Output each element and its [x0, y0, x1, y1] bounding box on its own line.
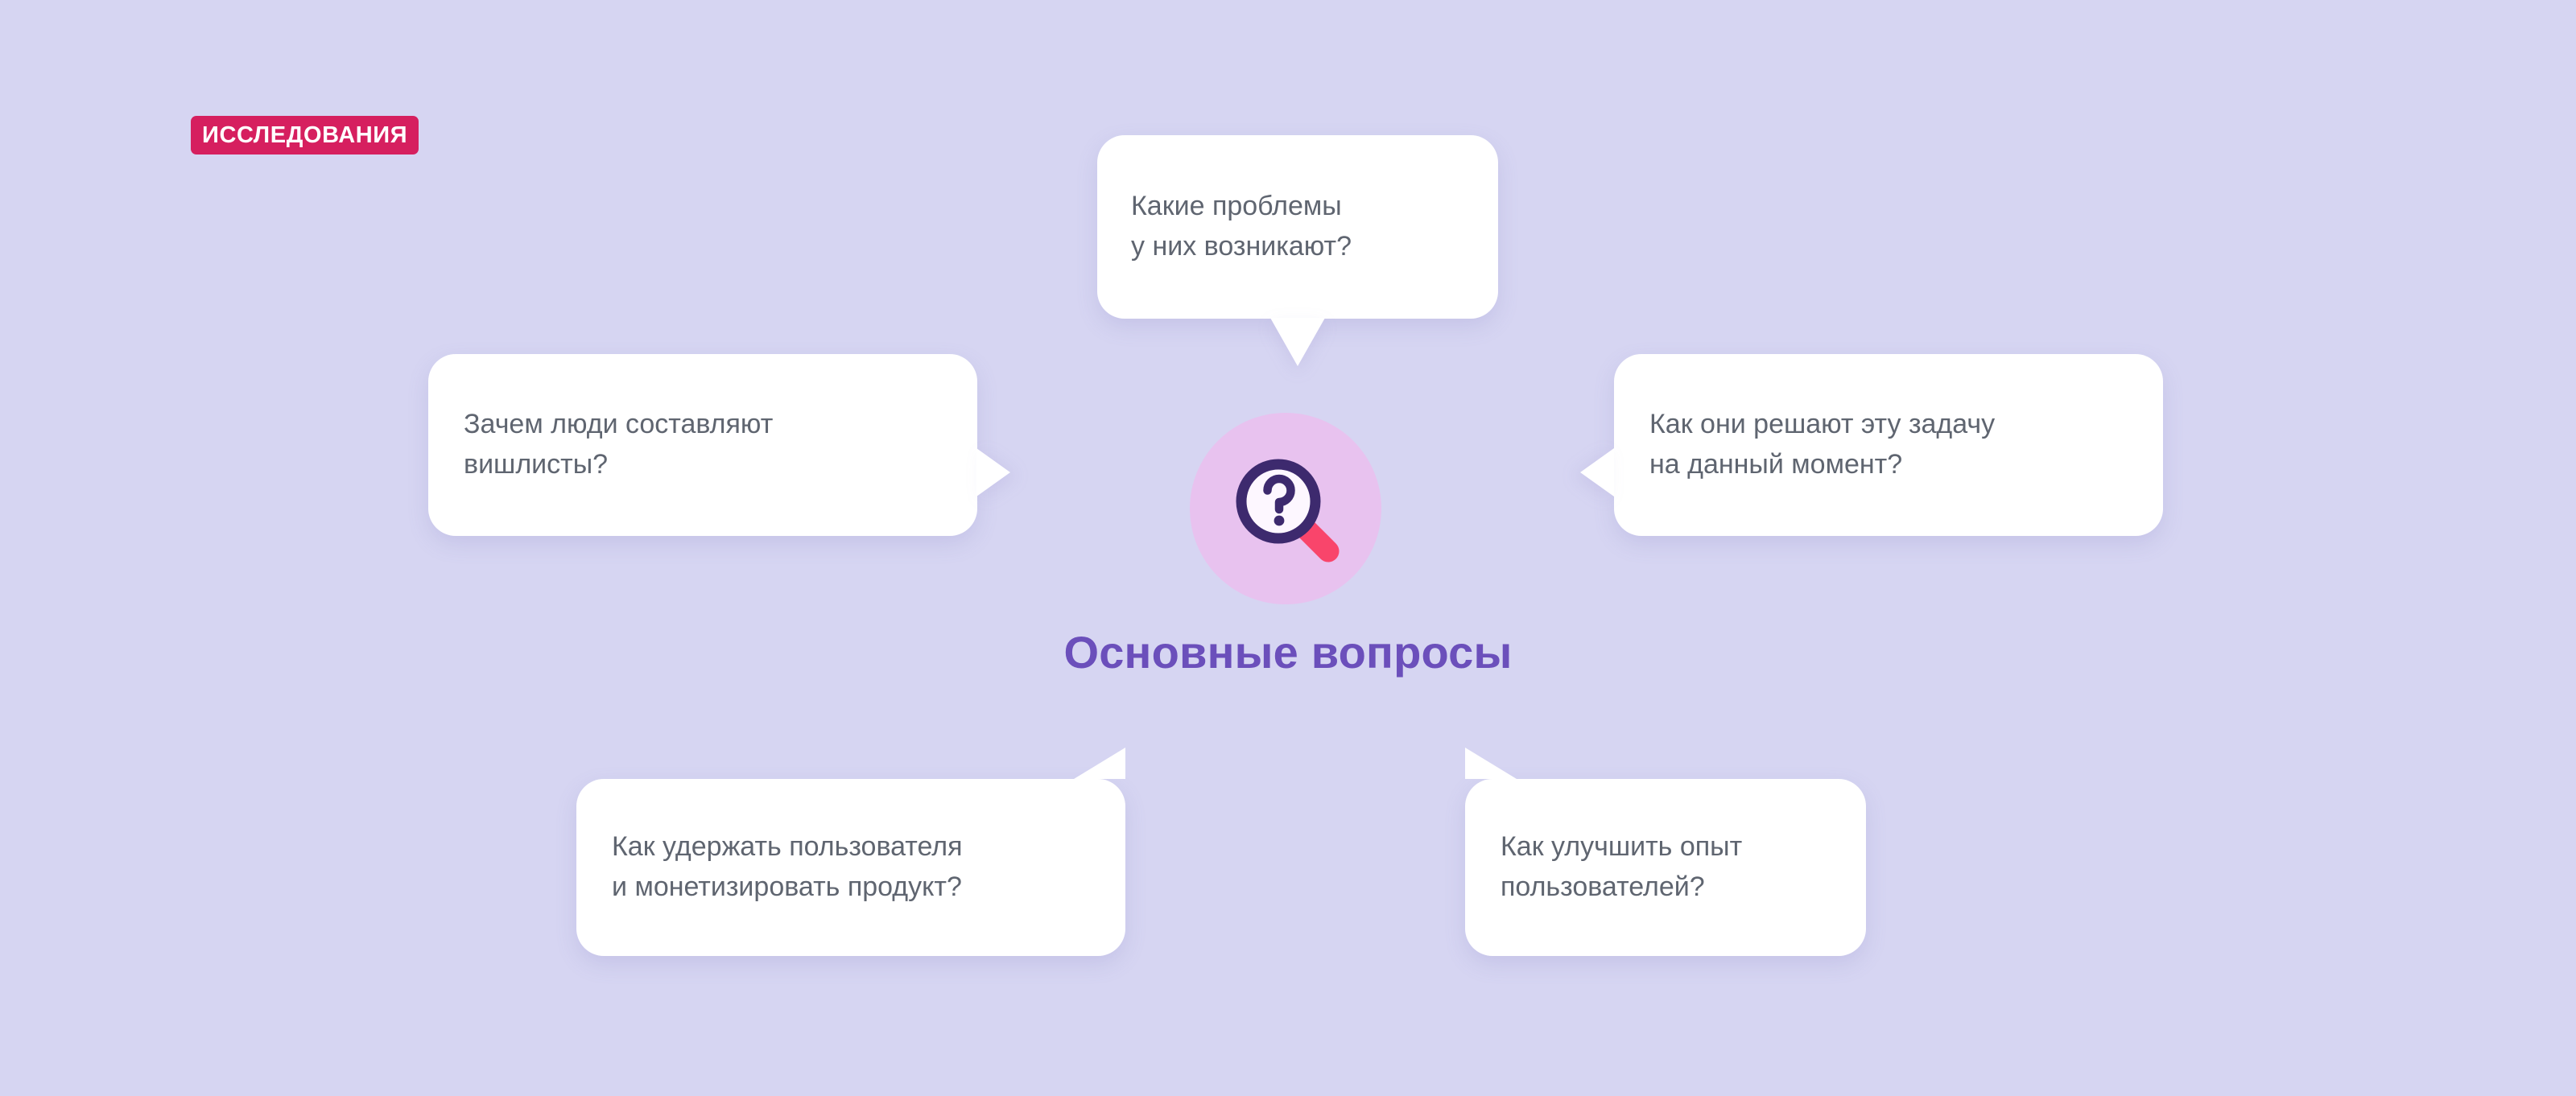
bubble-tail-down-icon: [1270, 318, 1325, 366]
magnifier-question-glyph: [1225, 448, 1346, 569]
bubble-tail-up-left-icon: [1465, 748, 1517, 779]
question-bubble-bottom-right: Как улучшить опыт пользователей?: [1465, 779, 1866, 956]
bubble-tail-up-right-icon: [1074, 748, 1125, 779]
question-bubble-bottom-left-text: Как удержать пользователя и монетизирова…: [612, 827, 963, 907]
question-bubble-top-text: Какие проблемы у них возникают?: [1131, 187, 1352, 266]
question-bubble-bottom-right-text: Как улучшить опыт пользователей?: [1501, 827, 1742, 907]
question-bubble-top: Какие проблемы у них возникают?: [1097, 135, 1498, 319]
category-badge: ИССЛЕДОВАНИЯ: [191, 116, 419, 155]
question-bubble-right-text: Как они решают эту задачу на данный моме…: [1649, 405, 1995, 484]
question-bubble-left-text: Зачем люди составляют вишлисты?: [464, 405, 773, 484]
question-bubble-right: Как они решают эту задачу на данный моме…: [1614, 354, 2163, 536]
magnifier-question-icon: [1190, 413, 1381, 604]
slide-canvas: ИССЛЕДОВАНИЯ Какие проблемы у них возник…: [0, 0, 2576, 1096]
bubble-tail-right-icon: [976, 448, 1010, 496]
question-bubble-left: Зачем люди составляют вишлисты?: [428, 354, 977, 536]
page-title: Основные вопросы: [0, 626, 2576, 678]
bubble-tail-left-icon: [1580, 448, 1614, 496]
question-bubble-bottom-left: Как удержать пользователя и монетизирова…: [576, 779, 1125, 956]
category-badge-label: ИССЛЕДОВАНИЯ: [202, 124, 407, 147]
